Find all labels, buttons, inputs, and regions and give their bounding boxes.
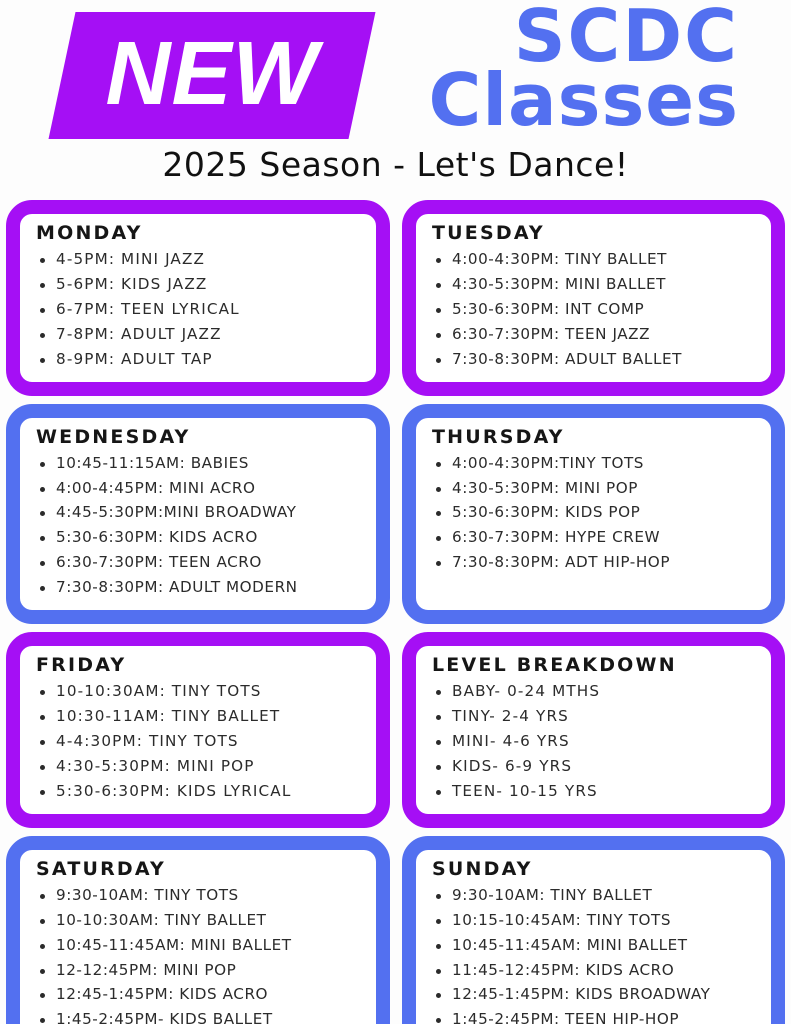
list-item: 6:30-7:30PM: TEEN ACRO xyxy=(36,550,366,575)
flyer-header: NEW SCDC Classes 2025 Season - Let's Dan… xyxy=(0,0,791,196)
schedule-grid: MONDAY 4-5PM: MINI JAZZ 5-6PM: KIDS JAZZ… xyxy=(0,196,791,1024)
list-item: 4-5PM: MINI JAZZ xyxy=(36,247,366,272)
list-item: 4:30-5:30PM: MINI POP xyxy=(36,754,366,779)
class-list-saturday: 9:30-10AM: TINY TOTS 10-10:30AM: TINY BA… xyxy=(36,883,366,1024)
list-item: 10:15-10:45AM: TINY TOTS xyxy=(432,908,761,933)
card-slot-thursday: THURSDAY 4:00-4:30PM:TINY TOTS 4:30-5:30… xyxy=(396,400,791,629)
list-item: MINI- 4-6 YRS xyxy=(432,729,761,754)
card-title-level-breakdown: LEVEL BREAKDOWN xyxy=(432,654,761,676)
list-item: 10:45-11:45AM: MINI BALLET xyxy=(432,933,761,958)
list-item: 12:45-1:45PM: KIDS ACRO xyxy=(36,982,366,1007)
card-slot-tuesday: TUESDAY 4:00-4:30PM: TINY BALLET 4:30-5:… xyxy=(396,196,791,400)
list-item: 11:45-12:45PM: KIDS ACRO xyxy=(432,958,761,983)
schedule-card-sunday: SUNDAY 9:30-10AM: TINY BALLET 10:15-10:4… xyxy=(402,836,785,1024)
class-list-monday: 4-5PM: MINI JAZZ 5-6PM: KIDS JAZZ 6-7PM:… xyxy=(36,247,366,372)
list-item: KIDS- 6-9 YRS xyxy=(432,754,761,779)
card-slot-friday: FRIDAY 10-10:30AM: TINY TOTS 10:30-11AM:… xyxy=(0,628,396,832)
schedule-card-level-breakdown: LEVEL BREAKDOWN BABY- 0-24 MTHS TINY- 2-… xyxy=(402,632,785,828)
brand-title: SCDC Classes xyxy=(428,2,739,135)
schedule-card-friday: FRIDAY 10-10:30AM: TINY TOTS 10:30-11AM:… xyxy=(6,632,390,828)
new-badge-label: NEW xyxy=(62,12,362,139)
list-item: TEEN- 10-15 YRS xyxy=(432,779,761,804)
card-title-thursday: THURSDAY xyxy=(432,426,761,448)
list-item: 10:45-11:45AM: MINI BALLET xyxy=(36,933,366,958)
list-item: 4-4:30PM: TINY TOTS xyxy=(36,729,366,754)
list-item: 6-7PM: TEEN LYRICAL xyxy=(36,297,366,322)
list-item: 5:30-6:30PM: INT COMP xyxy=(432,297,761,322)
list-item: 10:45-11:15AM: BABIES xyxy=(36,451,366,476)
schedule-card-monday: MONDAY 4-5PM: MINI JAZZ 5-6PM: KIDS JAZZ… xyxy=(6,200,390,396)
list-item: 10:30-11AM: TINY BALLET xyxy=(36,704,366,729)
list-item: 4:30-5:30PM: MINI BALLET xyxy=(432,272,761,297)
list-item: 9:30-10AM: TINY BALLET xyxy=(432,883,761,908)
class-list-friday: 10-10:30AM: TINY TOTS 10:30-11AM: TINY B… xyxy=(36,679,366,804)
list-item: 6:30-7:30PM: HYPE CREW xyxy=(432,525,761,550)
class-list-thursday: 4:00-4:30PM:TINY TOTS 4:30-5:30PM: MINI … xyxy=(432,451,761,576)
list-item: 12-12:45PM: MINI POP xyxy=(36,958,366,983)
list-item: 4:30-5:30PM: MINI POP xyxy=(432,476,761,501)
card-title-saturday: SATURDAY xyxy=(36,858,366,880)
list-item: 1:45-2:45PM- KIDS BALLET xyxy=(36,1007,366,1024)
card-title-tuesday: TUESDAY xyxy=(432,222,761,244)
list-item: 7:30-8:30PM: ADULT MODERN xyxy=(36,575,366,600)
season-subtitle: 2025 Season - Let's Dance! xyxy=(0,145,791,184)
card-title-wednesday: WEDNESDAY xyxy=(36,426,366,448)
schedule-card-thursday: THURSDAY 4:00-4:30PM:TINY TOTS 4:30-5:30… xyxy=(402,404,785,625)
schedule-card-tuesday: TUESDAY 4:00-4:30PM: TINY BALLET 4:30-5:… xyxy=(402,200,785,396)
card-slot-level-breakdown: LEVEL BREAKDOWN BABY- 0-24 MTHS TINY- 2-… xyxy=(396,628,791,832)
list-item: 7:30-8:30PM: ADT HIP-HOP xyxy=(432,550,761,575)
card-title-monday: MONDAY xyxy=(36,222,366,244)
list-item: 4:00-4:30PM:TINY TOTS xyxy=(432,451,761,476)
new-badge: NEW xyxy=(62,12,362,139)
list-item: 12:45-1:45PM: KIDS BROADWAY xyxy=(432,982,761,1007)
list-item: 9:30-10AM: TINY TOTS xyxy=(36,883,366,908)
list-item: 4:00-4:30PM: TINY BALLET xyxy=(432,247,761,272)
list-item: 10-10:30AM: TINY TOTS xyxy=(36,679,366,704)
list-item: 5:30-6:30PM: KIDS ACRO xyxy=(36,525,366,550)
list-item: 7:30-8:30PM: ADULT BALLET xyxy=(432,347,761,372)
list-item: 4:45-5:30PM:MINI BROADWAY xyxy=(36,500,366,525)
class-list-tuesday: 4:00-4:30PM: TINY BALLET 4:30-5:30PM: MI… xyxy=(432,247,761,372)
card-title-friday: FRIDAY xyxy=(36,654,366,676)
list-item: 5-6PM: KIDS JAZZ xyxy=(36,272,366,297)
class-list-sunday: 9:30-10AM: TINY BALLET 10:15-10:45AM: TI… xyxy=(432,883,761,1024)
card-title-sunday: SUNDAY xyxy=(432,858,761,880)
card-slot-wednesday: WEDNESDAY 10:45-11:15AM: BABIES 4:00-4:4… xyxy=(0,400,396,629)
level-list: BABY- 0-24 MTHS TINY- 2-4 YRS MINI- 4-6 … xyxy=(432,679,761,804)
list-item: 4:00-4:45PM: MINI ACRO xyxy=(36,476,366,501)
list-item: 10-10:30AM: TINY BALLET xyxy=(36,908,366,933)
schedule-card-wednesday: WEDNESDAY 10:45-11:15AM: BABIES 4:00-4:4… xyxy=(6,404,390,625)
list-item: BABY- 0-24 MTHS xyxy=(432,679,761,704)
card-slot-sunday: SUNDAY 9:30-10AM: TINY BALLET 10:15-10:4… xyxy=(396,832,791,1024)
card-slot-saturday: SATURDAY 9:30-10AM: TINY TOTS 10-10:30AM… xyxy=(0,832,396,1024)
list-item: TINY- 2-4 YRS xyxy=(432,704,761,729)
list-item: 5:30-6:30PM: KIDS POP xyxy=(432,500,761,525)
card-slot-monday: MONDAY 4-5PM: MINI JAZZ 5-6PM: KIDS JAZZ… xyxy=(0,196,396,400)
schedule-card-saturday: SATURDAY 9:30-10AM: TINY TOTS 10-10:30AM… xyxy=(6,836,390,1024)
brand-title-line2: Classes xyxy=(428,66,739,134)
list-item: 1:45-2:45PM: TEEN HIP-HOP xyxy=(432,1007,761,1024)
list-item: 8-9PM: ADULT TAP xyxy=(36,347,366,372)
flyer-page: NEW SCDC Classes 2025 Season - Let's Dan… xyxy=(0,0,791,1024)
list-item: 7-8PM: ADULT JAZZ xyxy=(36,322,366,347)
list-item: 6:30-7:30PM: TEEN JAZZ xyxy=(432,322,761,347)
list-item: 5:30-6:30PM: KIDS LYRICAL xyxy=(36,779,366,804)
class-list-wednesday: 10:45-11:15AM: BABIES 4:00-4:45PM: MINI … xyxy=(36,451,366,601)
